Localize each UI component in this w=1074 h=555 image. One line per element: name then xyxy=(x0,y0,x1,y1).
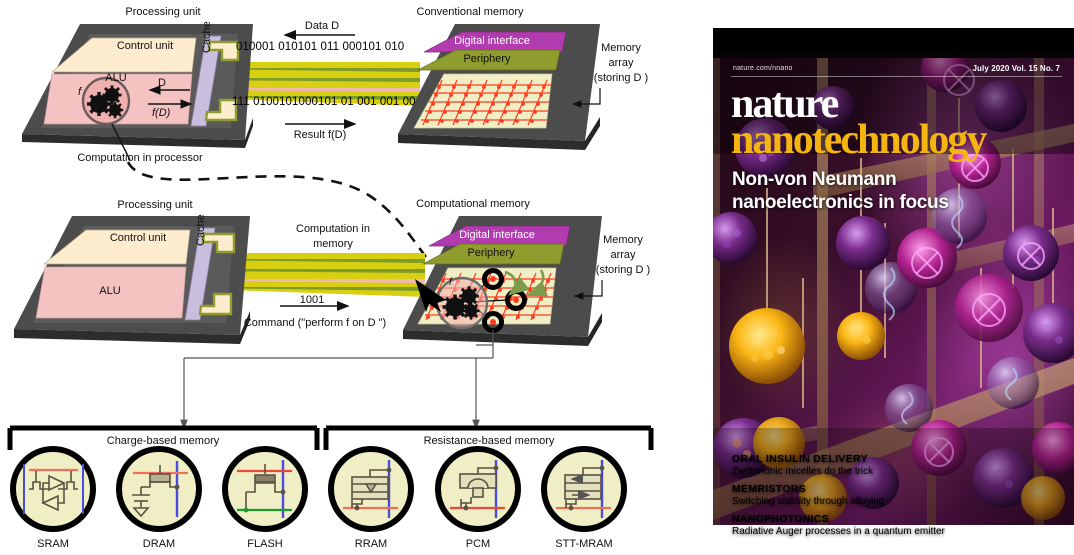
label-top-memory-array-1: Memory xyxy=(601,42,641,54)
label-top-periphery: Periphery xyxy=(463,53,510,65)
bits-command: 1001 xyxy=(300,294,324,306)
label-top-fd: f(D) xyxy=(152,107,170,119)
label-flash: FLASH xyxy=(247,538,282,550)
label-bottom-control-unit: Control unit xyxy=(110,232,166,244)
label-bottom-cache: Cache xyxy=(195,214,207,246)
label-top-cache: Cache xyxy=(201,21,213,53)
cover-teaser-2-title: NANOPHOTONICS xyxy=(732,513,945,525)
label-rram: RRAM xyxy=(355,538,387,550)
cover-teaser-0-title: ORAL INSULIN DELIVERY xyxy=(732,453,873,465)
label-resistance-based-memory: Resistance-based memory xyxy=(424,435,555,447)
label-bottom-f-symbol: f xyxy=(449,277,452,289)
label-computational-memory: Computational memory xyxy=(416,198,530,210)
label-top-digital-interface: Digital interface xyxy=(454,35,530,47)
label-bottom-processing-unit: Processing unit xyxy=(117,199,192,211)
stt-mram-cell-icon xyxy=(544,449,624,529)
label-sram: SRAM xyxy=(37,538,69,550)
label-data-d: Data D xyxy=(305,20,339,32)
dram-cell-icon xyxy=(119,449,199,529)
label-top-processing-unit: Processing unit xyxy=(125,6,200,18)
cover-teaser-2: NANOPHOTONICS Radiative Auger processes … xyxy=(732,513,945,537)
cover-teaser-0: ORAL INSULIN DELIVERY Zwitterionic micel… xyxy=(732,453,873,477)
bits-result-fd: 111 0100101000101 01 001 001 00 xyxy=(232,96,416,108)
sram-cell-icon xyxy=(13,449,93,529)
cover-teaser-1: MEMRISTORS Switching stability through a… xyxy=(732,483,884,507)
label-computation-in-memory-2: memory xyxy=(313,238,353,250)
cover-teaser-1-subtitle: Switching stability through alloying xyxy=(732,496,884,507)
cover-masthead-nanotechnology: nanotechnology xyxy=(731,116,985,164)
cover-headline-line2: nanoelectronics in focus xyxy=(732,192,949,213)
cover-teaser-0-subtitle: Zwitterionic micelles do the trick xyxy=(732,466,873,477)
label-dram: DRAM xyxy=(143,538,175,550)
cover-rule xyxy=(731,76,1062,77)
label-top-alu: ALU xyxy=(105,72,126,84)
flash-cell-icon xyxy=(225,449,305,529)
label-bottom-periphery: Periphery xyxy=(467,247,514,259)
pcm-cell-icon xyxy=(438,449,518,529)
label-pcm: PCM xyxy=(466,538,490,550)
cover-headline: Non-von Neumann nanoelectronics in focus xyxy=(732,168,949,214)
label-bottom-memory-array-3: (storing D ) xyxy=(596,264,650,276)
label-bottom-memory-array-2: array xyxy=(610,249,635,261)
label-charge-based-memory: Charge-based memory xyxy=(107,435,220,447)
label-top-memory-array-3: (storing D ) xyxy=(594,72,648,84)
nature-nanotechnology-cover: nature.com/nnano July 2020 Vol. 15 No. 7… xyxy=(713,28,1074,525)
label-top-memory-array-2: array xyxy=(608,57,633,69)
rram-cell-icon xyxy=(331,449,411,529)
cover-teaser-2-subtitle: Radiative Auger processes in a quantum e… xyxy=(732,526,945,537)
schematic-figure: Processing unit Control unit ALU f Cache… xyxy=(0,0,705,550)
cover-teaser-1-title: MEMRISTORS xyxy=(732,483,884,495)
cover-url: nature.com/nnano xyxy=(733,65,793,72)
label-bottom-memory-array-1: Memory xyxy=(603,234,643,246)
cover-issue: July 2020 Vol. 15 No. 7 xyxy=(972,64,1060,73)
label-stt-mram: STT-MRAM xyxy=(555,538,612,550)
cover-headline-line1: Non-von Neumann xyxy=(732,169,896,190)
fanout-connectors xyxy=(184,330,493,428)
label-top-d: D xyxy=(158,77,166,89)
label-conventional-memory: Conventional memory xyxy=(417,6,524,18)
bits-data-d: 010001 010101 011 000101 010 xyxy=(236,41,404,53)
label-computation-in-memory-1: Computation in xyxy=(296,223,370,235)
label-computation-in-processor-1: Computation in processor xyxy=(77,152,202,164)
label-bottom-alu: ALU xyxy=(99,285,120,297)
label-top-control-unit: Control unit xyxy=(117,40,173,52)
label-top-f-symbol: f xyxy=(78,86,81,98)
label-command: Command ("perform f on D ") xyxy=(244,317,386,329)
figure-page: Processing unit Control unit ALU f Cache… xyxy=(0,0,1074,550)
label-bottom-digital-interface: Digital interface xyxy=(459,229,535,241)
label-result-fd: Result f(D) xyxy=(294,129,347,141)
